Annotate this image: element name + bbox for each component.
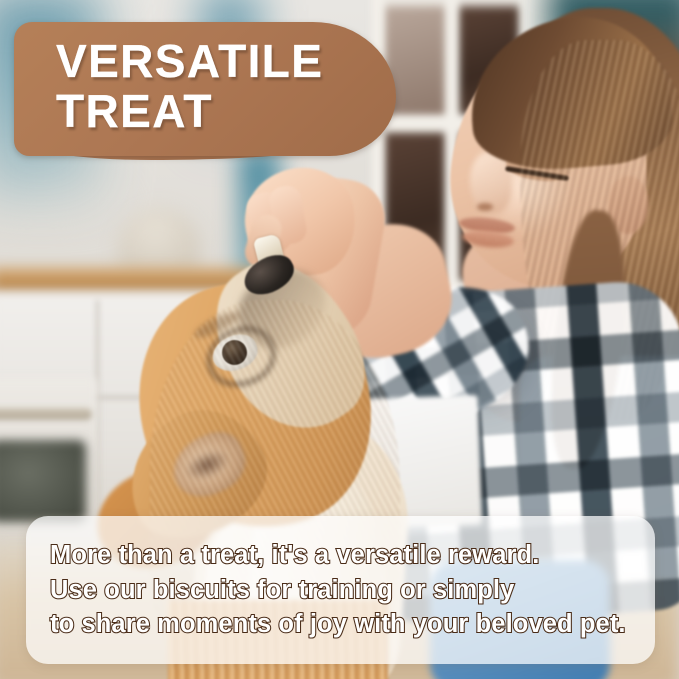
product-lifestyle-image: VERSATILE TREAT More than a treat, it's …: [0, 0, 679, 679]
badge-title-line2: TREAT: [56, 86, 386, 136]
badge-title: VERSATILE TREAT: [56, 36, 386, 136]
caption-line-1: More than a treat, it's a versatile rewa…: [50, 538, 650, 573]
badge-title-line1: VERSATILE: [56, 35, 323, 87]
caption-line-2: Use our biscuits for training or simply: [50, 573, 650, 608]
caption-line-3: to share moments of joy with your belove…: [50, 607, 650, 642]
caption-text: More than a treat, it's a versatile rewa…: [50, 538, 650, 642]
